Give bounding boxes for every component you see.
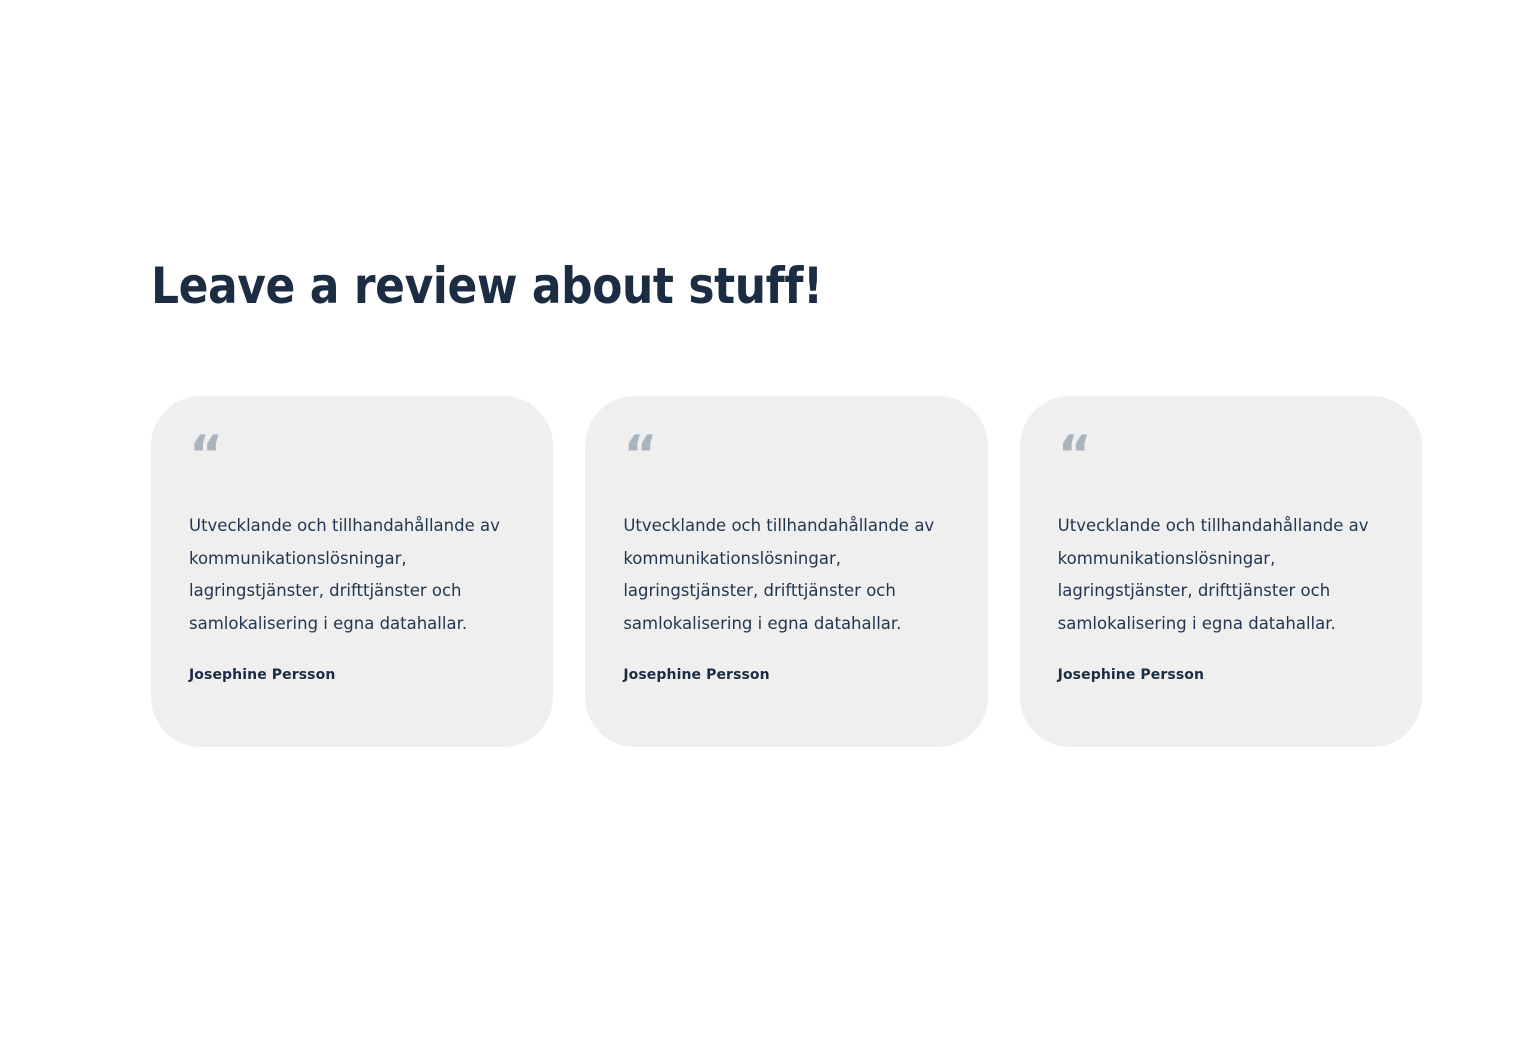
- reviews-card-row: “ Utvecklande och tillhandahållande av k…: [151, 396, 1422, 747]
- review-author: Josephine Persson: [623, 665, 949, 685]
- page-root: Leave a review about stuff! “ Utveckland…: [0, 0, 1533, 1040]
- review-author: Josephine Persson: [1058, 665, 1384, 685]
- review-text: Utvecklande och tillhandahållande av kom…: [623, 510, 949, 640]
- quote-open-icon: “: [1058, 442, 1384, 472]
- page-title: Leave a review about stuff!: [151, 255, 1269, 317]
- reviews-section: Leave a review about stuff! “ Utveckland…: [151, 255, 1422, 747]
- quote-open-icon: “: [623, 442, 949, 472]
- review-card: “ Utvecklande och tillhandahållande av k…: [585, 396, 987, 747]
- review-author: Josephine Persson: [189, 665, 515, 685]
- quote-open-icon: “: [189, 442, 515, 472]
- review-card: “ Utvecklande och tillhandahållande av k…: [1020, 396, 1422, 747]
- review-card: “ Utvecklande och tillhandahållande av k…: [151, 396, 553, 747]
- review-text: Utvecklande och tillhandahållande av kom…: [1058, 510, 1384, 640]
- review-text: Utvecklande och tillhandahållande av kom…: [189, 510, 515, 640]
